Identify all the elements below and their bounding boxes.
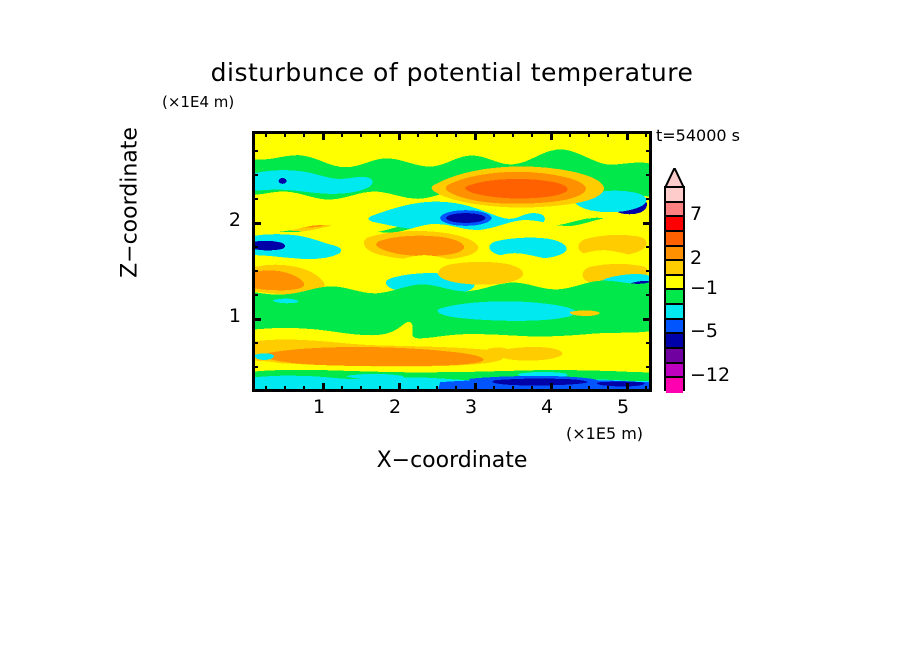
x-tick-top-minor (284, 131, 286, 137)
y-tick-right-major (643, 318, 652, 321)
colorbar-arrow-tip (664, 168, 685, 188)
x-tick-label: 4 (527, 396, 567, 418)
x-tick-minor (341, 386, 343, 392)
x-tick-top-major (550, 131, 553, 140)
colorbar-band (666, 203, 683, 218)
x-tick-top-minor (436, 131, 438, 137)
x-tick-top-major (626, 131, 629, 140)
colorbar-band (666, 261, 683, 276)
y-tick-minor (252, 150, 258, 152)
x-tick-major (626, 383, 629, 392)
colorbar-band (666, 188, 683, 203)
colorbar-tick-label: 7 (690, 203, 702, 225)
colorbar-tick-label: −1 (690, 277, 718, 299)
colorbar-band (666, 349, 683, 364)
y-tick-major (252, 318, 261, 321)
timestamp-annotation: t=54000 s (656, 126, 740, 145)
y-tick-right-minor (646, 270, 652, 272)
x-tick-major (322, 383, 325, 392)
y-axis-title: Z−coordinate (118, 63, 143, 343)
colorbar-band (666, 320, 683, 335)
x-tick-top-minor (607, 131, 609, 137)
x-tick-top-minor (645, 131, 647, 137)
x-tick-top-minor (379, 131, 381, 137)
colorbar-tick-label: −12 (690, 364, 730, 386)
colorbar-tick-label: 2 (690, 247, 702, 269)
y-tick-right-major (643, 222, 652, 225)
x-tick-minor (379, 386, 381, 392)
colorbar-band (666, 247, 683, 262)
y-tick-right-minor (646, 342, 652, 344)
y-tick-minor (252, 198, 258, 200)
x-tick-minor (436, 386, 438, 392)
y-tick-minor (252, 174, 258, 176)
y-tick-right-minor (646, 294, 652, 296)
x-tick-top-minor (417, 131, 419, 137)
x-axis-unit-label: (×1E5 m) (566, 424, 643, 443)
x-tick-top-major (474, 131, 477, 140)
x-tick-top-minor (569, 131, 571, 137)
y-tick-label: 1 (215, 305, 241, 327)
colorbar-band (666, 290, 683, 305)
x-tick-label: 5 (603, 396, 643, 418)
x-tick-top-major (398, 131, 401, 140)
x-tick-label: 2 (375, 396, 415, 418)
x-tick-top-minor (531, 131, 533, 137)
y-tick-right-minor (646, 150, 652, 152)
x-tick-top-minor (303, 131, 305, 137)
colorbar-band (666, 364, 683, 379)
y-tick-right-minor (646, 174, 652, 176)
colorbar[interactable] (664, 186, 685, 391)
y-tick-minor (252, 294, 258, 296)
x-tick-label: 3 (451, 396, 491, 418)
x-tick-label: 1 (299, 396, 339, 418)
x-tick-top-minor (512, 131, 514, 137)
colorbar-band (666, 305, 683, 320)
x-tick-top-major (322, 131, 325, 140)
x-tick-minor (455, 386, 457, 392)
x-tick-minor (569, 386, 571, 392)
colorbar-band (666, 378, 683, 393)
colorbar-tick-label: −5 (690, 320, 718, 342)
x-tick-top-minor (341, 131, 343, 137)
x-axis-title: X−coordinate (0, 448, 904, 473)
x-tick-minor (607, 386, 609, 392)
x-tick-top-minor (588, 131, 590, 137)
x-tick-top-minor (493, 131, 495, 137)
x-tick-minor (284, 386, 286, 392)
x-tick-minor (303, 386, 305, 392)
x-tick-minor (588, 386, 590, 392)
plot-area (252, 131, 652, 392)
colorbar-band (666, 276, 683, 291)
y-tick-right-minor (646, 198, 652, 200)
y-tick-minor (252, 246, 258, 248)
x-tick-top-minor (360, 131, 362, 137)
y-tick-right-minor (646, 366, 652, 368)
y-tick-major (252, 222, 261, 225)
x-tick-major (398, 383, 401, 392)
y-tick-minor (252, 342, 258, 344)
x-tick-minor (360, 386, 362, 392)
y-tick-minor (252, 270, 258, 272)
contour-field (255, 134, 649, 389)
colorbar-band (666, 334, 683, 349)
colorbar-band (666, 217, 683, 232)
x-tick-minor (265, 386, 267, 392)
x-tick-minor (531, 386, 533, 392)
y-tick-right-minor (646, 246, 652, 248)
y-tick-right-minor (646, 390, 652, 392)
y-tick-minor (252, 390, 258, 392)
x-tick-top-minor (455, 131, 457, 137)
y-tick-minor (252, 366, 258, 368)
x-tick-minor (512, 386, 514, 392)
x-tick-minor (417, 386, 419, 392)
colorbar-band (666, 232, 683, 247)
x-tick-major (550, 383, 553, 392)
y-axis-unit-label: (×1E4 m) (162, 93, 234, 111)
x-tick-minor (493, 386, 495, 392)
x-tick-top-minor (265, 131, 267, 137)
y-tick-label: 2 (215, 209, 241, 231)
x-tick-major (474, 383, 477, 392)
